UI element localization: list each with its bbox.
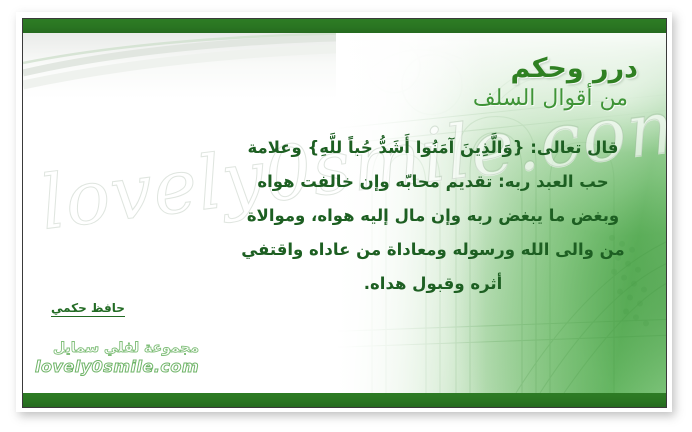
quote-author: حافظ حكمي: [51, 301, 125, 317]
quote-line: قال تعالى: {وَالَّذِينَ آمَنُوا أَشَدُّ …: [218, 131, 648, 165]
page-title: درر وحكم: [473, 53, 638, 84]
footer-signature: مجموعة لفلي سمايل lovely0smile.com: [35, 341, 199, 375]
card-inner-frame: درر وحكم من أقوال السلف lovely0smile.com…: [22, 18, 667, 408]
page-subtitle: من أقوال السلف: [473, 85, 628, 113]
greeting-card: درر وحكم من أقوال السلف lovely0smile.com…: [0, 0, 692, 432]
quote-line: وبغض ما يبغض ربه وإن مال إليه هواه، وموا…: [218, 199, 648, 233]
top-green-bar: [23, 19, 666, 33]
card-heading: درر وحكم من أقوال السلف: [473, 53, 638, 113]
footer-website[interactable]: lovely0smile.com: [35, 359, 199, 375]
bottom-green-bar: [23, 393, 666, 407]
quote-text: قال تعالى: {وَالَّذِينَ آمَنُوا أَشَدُّ …: [218, 131, 648, 301]
footer-group-name: مجموعة لفلي سمايل: [35, 341, 199, 355]
quote-line: أثره وقبول هداه.: [218, 267, 648, 301]
card-canvas: درر وحكم من أقوال السلف lovely0smile.com…: [23, 33, 666, 393]
quote-line: من والى الله ورسوله ومعاداة من عاداه واق…: [218, 233, 648, 267]
quote-line: حب العبد ربه: تقديم محابّه وإن خالفت هوا…: [218, 165, 648, 199]
